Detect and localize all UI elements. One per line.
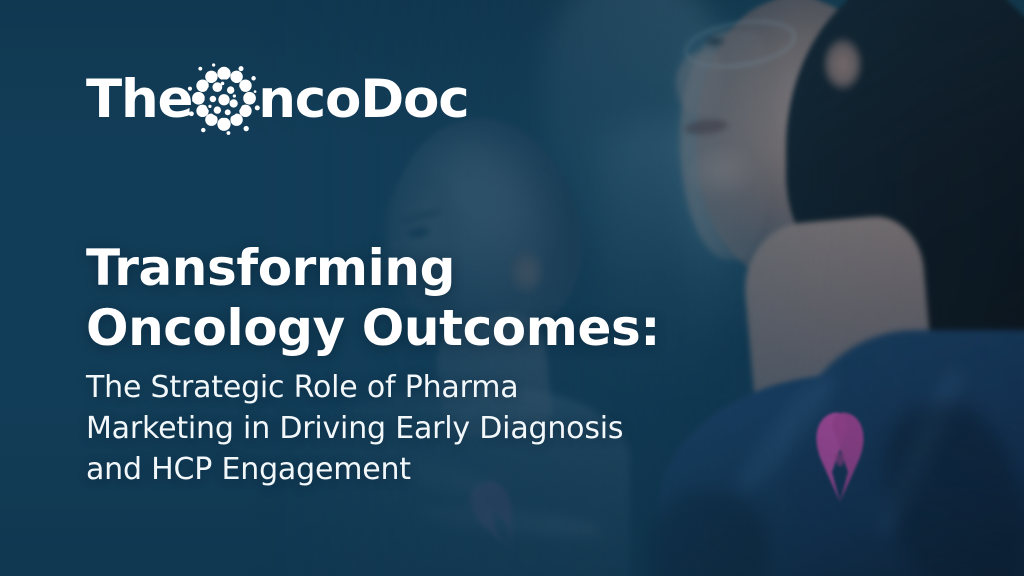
subhead-line-3: and HCP Engagement — [86, 449, 726, 490]
logo-text-lead: The — [86, 73, 192, 126]
cancer-cell-cluster-icon — [187, 62, 261, 136]
logo-text-tail: ncoDoc — [258, 73, 468, 126]
headline-line-2: Oncology Outcomes: — [86, 298, 726, 358]
social-banner: The — [0, 0, 1024, 576]
headline-line-1: Transforming — [86, 238, 726, 298]
brand-logo[interactable]: The — [86, 68, 468, 130]
page-subtitle: The Strategic Role of Pharma Marketing i… — [86, 367, 726, 490]
page-title: Transforming Oncology Outcomes: — [86, 238, 726, 358]
banner-content: The — [0, 0, 1024, 576]
subhead-line-1: The Strategic Role of Pharma — [86, 367, 726, 408]
subhead-line-2: Marketing in Driving Early Diagnosis — [86, 408, 726, 449]
